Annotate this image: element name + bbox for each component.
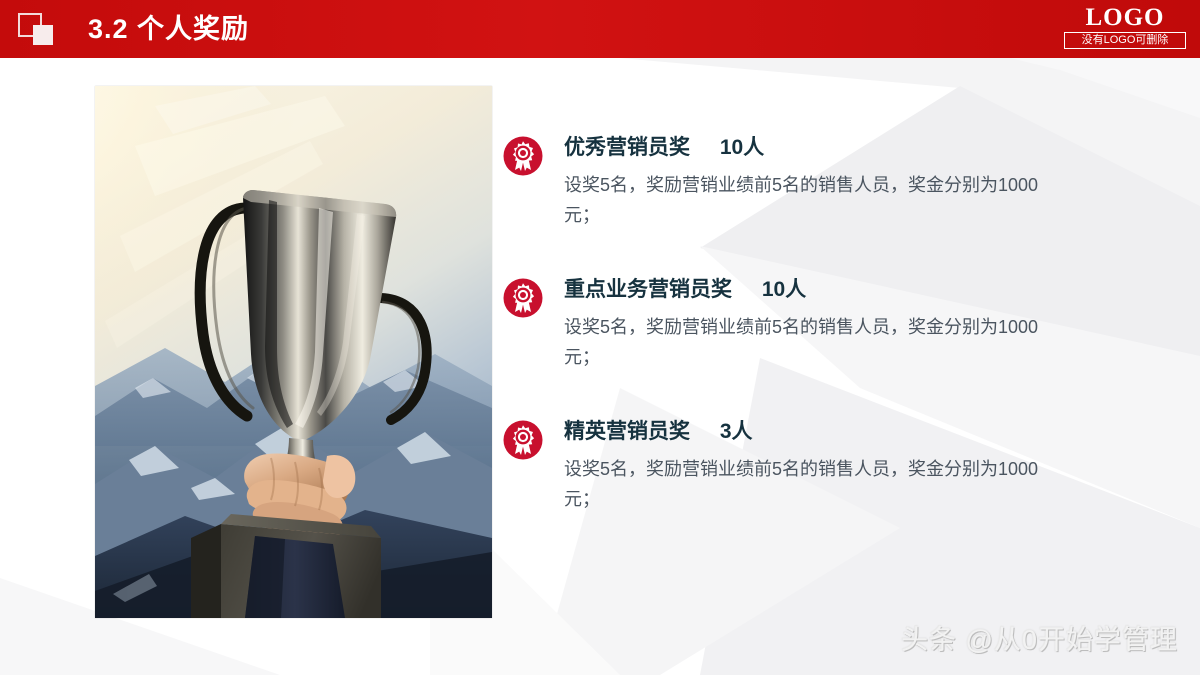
award-count: 10人 [720, 136, 764, 159]
award-title: 精英营销员奖 [564, 420, 690, 443]
medal-rosette-icon [503, 136, 543, 176]
trophy-photo-graphic: 1 [95, 86, 492, 618]
slide-root: 3.2 个人奖励 LOGO 没有LOGO可删除 [0, 0, 1200, 675]
award-title: 优秀营销员奖 [564, 136, 690, 159]
award-heading: 优秀营销员奖 10人 [564, 133, 1143, 163]
award-description: 设奖5名，奖励营销业绩前5名的销售人员，奖金分别为1000元； [564, 170, 1054, 230]
page-title: 3.2 个人奖励 [88, 9, 249, 49]
award-count: 3人 [720, 420, 753, 443]
watermark: 头条 @从0开始学管理 [901, 618, 1178, 657]
award-item: 精英营销员奖 3人 设奖5名，奖励营销业绩前5名的销售人员，奖金分别为1000元… [503, 417, 1143, 527]
award-description: 设奖5名，奖励营销业绩前5名的销售人员，奖金分别为1000元； [564, 312, 1054, 372]
square-filled [33, 25, 53, 45]
logo-text: LOGO [1064, 5, 1186, 31]
logo-note: 没有LOGO可删除 [1064, 32, 1186, 49]
medal-rosette-icon [503, 278, 543, 318]
logo-placeholder: LOGO 没有LOGO可删除 [1064, 5, 1186, 49]
trophy-photo: 1 [95, 86, 492, 618]
medal-rosette-icon [503, 420, 543, 460]
award-heading: 重点业务营销员奖 10人 [564, 275, 1143, 305]
award-list: 优秀营销员奖 10人 设奖5名，奖励营销业绩前5名的销售人员，奖金分别为1000… [503, 133, 1143, 559]
award-count: 10人 [762, 278, 806, 301]
award-description: 设奖5名，奖励营销业绩前5名的销售人员，奖金分别为1000元； [564, 454, 1054, 514]
header-bar: 3.2 个人奖励 LOGO 没有LOGO可删除 [0, 0, 1200, 58]
award-title: 重点业务营销员奖 [564, 278, 732, 301]
award-item: 优秀营销员奖 10人 设奖5名，奖励营销业绩前5名的销售人员，奖金分别为1000… [503, 133, 1143, 243]
award-heading: 精英营销员奖 3人 [564, 417, 1143, 447]
award-item: 重点业务营销员奖 10人 设奖5名，奖励营销业绩前5名的销售人员，奖金分别为10… [503, 275, 1143, 385]
two-squares-icon [18, 13, 64, 46]
